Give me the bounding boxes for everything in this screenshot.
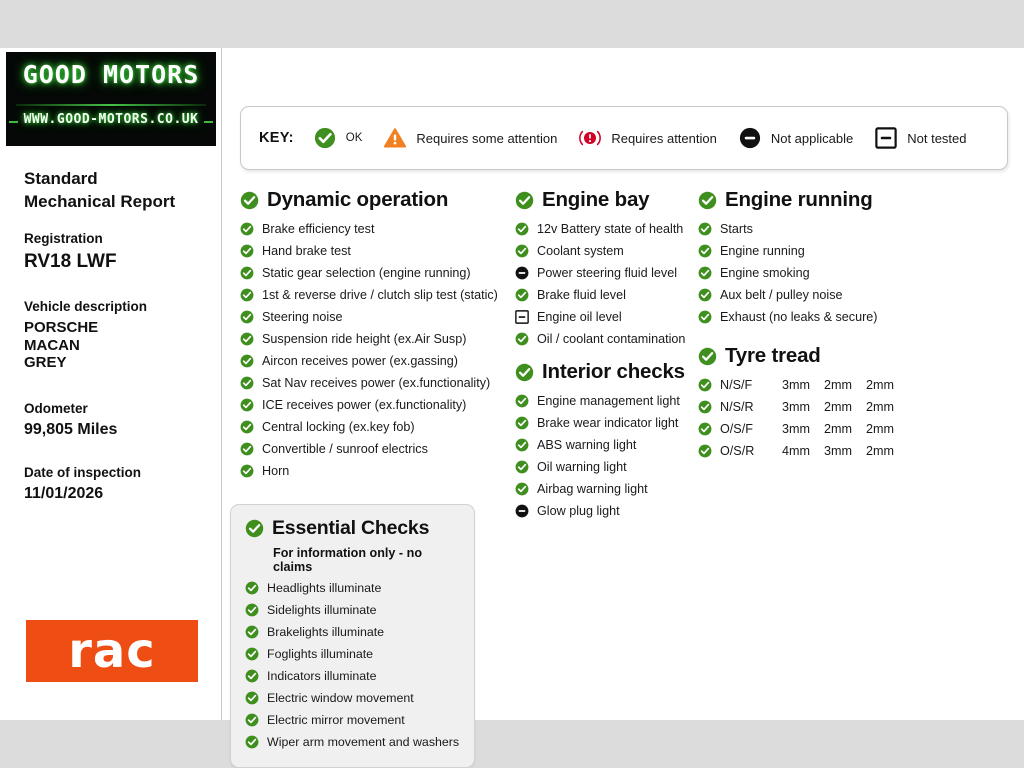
check-item: Brake efficiency test [240, 218, 505, 240]
section-title: Essential Checks [272, 517, 429, 540]
check-circle-icon [245, 603, 259, 617]
check-circle-icon [240, 376, 254, 390]
vehicle-make: PORSCHE [24, 319, 214, 336]
minus-circle-icon [515, 266, 529, 280]
check-item-label: Steering noise [262, 310, 343, 324]
check-item-label: ICE receives power (ex.functionality) [262, 398, 466, 412]
tyre-depth-outer: 3mm [782, 400, 824, 414]
key-legend-item-label: Not tested [907, 131, 966, 146]
inspection-columns: Dynamic operationBrake efficiency testHa… [240, 188, 1010, 718]
check-circle-icon [245, 519, 264, 538]
check-circle-icon [240, 420, 254, 434]
check-item: Static gear selection (engine running) [240, 262, 505, 284]
check-item-label: ABS warning light [537, 438, 636, 452]
check-item-label: Aircon receives power (ex.gassing) [262, 354, 458, 368]
key-legend-item-label: OK [346, 132, 363, 144]
check-circle-icon [698, 266, 712, 280]
tyre-depth-outer: 3mm [782, 378, 824, 392]
check-item: Headlights illuminate [245, 577, 460, 599]
check-circle-icon [698, 378, 712, 392]
inspection-date-value: 11/01/2026 [24, 485, 214, 503]
key-legend-item-na: Not applicable [739, 127, 853, 149]
check-item-label: Static gear selection (engine running) [262, 266, 471, 280]
tyre-depth-middle: 2mm [824, 378, 866, 392]
footer-watermark [974, 699, 976, 706]
check-circle-icon [515, 191, 534, 210]
check-item: Exhaust (no leaks & secure) [698, 306, 1008, 328]
check-circle-icon [515, 438, 529, 452]
good-motors-logo-name: GOOD MOTORS [6, 60, 216, 89]
section-subtitle: For information only - no claims [273, 546, 460, 574]
key-legend-item-attention-some: Requires some attention [384, 127, 557, 149]
check-circle-icon [515, 288, 529, 302]
check-circle-icon [240, 266, 254, 280]
check-circle-icon [240, 332, 254, 346]
section-header: Interior checks [515, 360, 705, 384]
check-circle-icon [698, 347, 717, 366]
check-item: Hand brake test [240, 240, 505, 262]
tyre-depth-middle: 2mm [824, 422, 866, 436]
rac-logo-text: rac [68, 627, 156, 675]
check-item-label: Sat Nav receives power (ex.functionality… [262, 376, 490, 390]
check-item: Engine management light [515, 390, 705, 412]
check-circle-icon [698, 288, 712, 302]
page-title-line-2: Mechanical Report [24, 191, 214, 214]
check-circle-icon [245, 691, 259, 705]
check-circle-icon [240, 354, 254, 368]
check-item-label: Wiper arm movement and washers [267, 735, 459, 749]
check-circle-icon [698, 400, 712, 414]
minus-square-icon [515, 310, 529, 324]
tyre-depth-middle: 2mm [824, 400, 866, 414]
section-engine-running: Engine runningStartsEngine runningEngine… [698, 188, 1008, 328]
check-item-label: Convertible / sunroof electrics [262, 442, 428, 456]
check-circle-icon [515, 482, 529, 496]
section-dynamic-operation: Dynamic operationBrake efficiency testHa… [240, 188, 505, 482]
check-item-label: Oil / coolant contamination [537, 332, 685, 346]
tyre-row: N/S/R3mm2mm2mm [698, 396, 1008, 418]
check-item: Foglights illuminate [245, 643, 460, 665]
check-item-label: Hand brake test [262, 244, 351, 258]
check-circle-icon [240, 222, 254, 236]
check-circle-icon [240, 191, 259, 210]
check-circle-icon [245, 625, 259, 639]
check-item-label: Foglights illuminate [267, 647, 373, 661]
check-item-label: 1st & reverse drive / clutch slip test (… [262, 288, 498, 302]
check-circle-icon [515, 460, 529, 474]
check-item-label: Suspension ride height (ex.Air Susp) [262, 332, 466, 346]
check-item-label: 12v Battery state of health [537, 222, 683, 236]
check-circle-icon [515, 416, 529, 430]
section-engine-bay: Engine bay 12v Battery state of healthCo… [515, 188, 705, 350]
check-item: Airbag warning light [515, 478, 705, 500]
check-circle-icon [240, 244, 254, 258]
section-header: Tyre tread [698, 344, 1008, 368]
page-title-line-1: Standard [24, 168, 214, 191]
check-circle-icon [698, 310, 712, 324]
vehicle-description-label: Vehicle description [24, 299, 214, 314]
check-circle-icon [245, 669, 259, 683]
vehicle-colour: GREY [24, 354, 214, 371]
tyre-row: O/S/R4mm3mm2mm [698, 440, 1008, 462]
check-item: Electric mirror movement [245, 709, 460, 731]
tyre-depth-outer: 4mm [782, 444, 824, 458]
tyre-depth-inner: 2mm [866, 422, 908, 436]
section-header: Engine running [698, 188, 1008, 212]
check-item: Aux belt / pulley noise [698, 284, 1008, 306]
rac-logo: rac [26, 620, 198, 682]
good-motors-logo-url: WWW.GOOD-MOTORS.CO.UK [6, 112, 216, 127]
check-item: Brakelights illuminate [245, 621, 460, 643]
check-circle-icon [698, 244, 712, 258]
vehicle-model: MACAN [24, 337, 214, 354]
check-item: Convertible / sunroof electrics [240, 438, 505, 460]
tyre-row: N/S/F3mm2mm2mm [698, 374, 1008, 396]
key-legend-title: KEY: [259, 130, 294, 146]
check-item: Engine smoking [698, 262, 1008, 284]
check-item: 12v Battery state of health [515, 218, 705, 240]
check-item-label: Indicators illuminate [267, 669, 377, 683]
section-title: Engine bay [542, 188, 649, 212]
check-item-label: Electric window movement [267, 691, 414, 705]
column-left: Dynamic operationBrake efficiency testHa… [240, 188, 505, 482]
check-item-label: Brake wear indicator light [537, 416, 678, 430]
minus-circle-icon [739, 127, 761, 149]
section-essential-checks: Essential ChecksFor information only - n… [230, 504, 475, 768]
alert-circle-icon [579, 127, 601, 149]
report-page: GOOD MOTORS WWW.GOOD-MOTORS.CO.UK Standa… [0, 48, 1024, 720]
tyre-depth-inner: 2mm [866, 444, 908, 458]
tyre-depth-inner: 2mm [866, 400, 908, 414]
key-legend: KEY: OKRequires some attentionRequires a… [240, 106, 1008, 170]
check-circle-icon [698, 191, 717, 210]
tyre-depth-inner: 2mm [866, 378, 908, 392]
check-item: Suspension ride height (ex.Air Susp) [240, 328, 505, 350]
check-item-label: Electric mirror movement [267, 713, 405, 727]
check-circle-icon [698, 444, 712, 458]
tyre-depth-middle: 3mm [824, 444, 866, 458]
check-circle-icon [698, 222, 712, 236]
registration-value: RV18 LWF [24, 251, 214, 273]
check-circle-icon [515, 363, 534, 382]
tyre-row: O/S/F3mm2mm2mm [698, 418, 1008, 440]
tyre-position: O/S/R [720, 444, 782, 458]
tyre-position: N/S/F [720, 378, 782, 392]
check-item-label: Glow plug light [537, 504, 620, 518]
inspection-date-label: Date of inspection [24, 465, 214, 480]
section-tyre-tread: Tyre treadN/S/F3mm2mm2mmN/S/R3mm2mm2mmO/… [698, 344, 1008, 462]
check-item: Aircon receives power (ex.gassing) [240, 350, 505, 372]
section-header: Engine bay [515, 188, 705, 212]
check-item-label: Starts [720, 222, 753, 236]
check-item-label: Horn [262, 464, 289, 478]
check-item-label: Headlights illuminate [267, 581, 381, 595]
check-item: Central locking (ex.key fob) [240, 416, 505, 438]
check-item-label: Brakelights illuminate [267, 625, 384, 639]
check-circle-icon [240, 398, 254, 412]
check-item: Brake wear indicator light [515, 412, 705, 434]
tyre-position: O/S/F [720, 422, 782, 436]
check-item: Glow plug light [515, 500, 705, 522]
check-item: Sat Nav receives power (ex.functionality… [240, 372, 505, 394]
check-item-label: Engine running [720, 244, 805, 258]
check-item-label: Coolant system [537, 244, 624, 258]
check-circle-icon [515, 394, 529, 408]
check-item: Steering noise [240, 306, 505, 328]
key-legend-item-ok: OK [314, 127, 363, 149]
check-circle-icon [245, 735, 259, 749]
check-circle-icon [515, 222, 529, 236]
check-item: Sidelights illuminate [245, 599, 460, 621]
check-circle-icon [314, 127, 336, 149]
minus-circle-icon [515, 504, 529, 518]
check-item-label: Engine oil level [537, 310, 622, 324]
section-title: Interior checks [542, 360, 685, 384]
vehicle-details-sidebar: GOOD MOTORS WWW.GOOD-MOTORS.CO.UK Standa… [0, 48, 222, 720]
check-item-label: Airbag warning light [537, 482, 648, 496]
check-item: 1st & reverse drive / clutch slip test (… [240, 284, 505, 306]
check-item: Oil warning light [515, 456, 705, 478]
key-legend-item-attention: Requires attention [579, 127, 717, 149]
check-circle-icon [240, 288, 254, 302]
check-circle-icon [240, 310, 254, 324]
column-right: Engine runningStartsEngine runningEngine… [698, 188, 1008, 462]
check-item-label: Engine management light [537, 394, 680, 408]
check-item-label: Exhaust (no leaks & secure) [720, 310, 878, 324]
section-title: Engine running [725, 188, 873, 212]
check-circle-icon [515, 332, 529, 346]
logo-divider [16, 104, 206, 106]
check-item-label: Aux belt / pulley noise [720, 288, 843, 302]
check-circle-icon [515, 244, 529, 258]
section-title: Dynamic operation [267, 188, 448, 212]
odometer-value: 99,805 Miles [24, 421, 214, 439]
check-item: ICE receives power (ex.functionality) [240, 394, 505, 416]
check-item: Engine running [698, 240, 1008, 262]
check-item: Indicators illuminate [245, 665, 460, 687]
check-item: Electric window movement [245, 687, 460, 709]
check-item: ABS warning light [515, 434, 705, 456]
check-item-label: Power steering fluid level [537, 266, 677, 280]
page-title: Standard Mechanical Report [24, 168, 214, 213]
key-legend-item-label: Requires some attention [416, 131, 557, 146]
key-legend-item-label: Not applicable [771, 131, 853, 146]
check-item-label: Engine smoking [720, 266, 810, 280]
section-interior-checks: Interior checksEngine management lightBr… [515, 360, 705, 522]
vehicle-description-value: PORSCHE MACAN GREY [24, 319, 214, 371]
check-item: Starts [698, 218, 1008, 240]
key-legend-items: OKRequires some attentionRequires attent… [314, 127, 989, 149]
check-item-label: Brake efficiency test [262, 222, 374, 236]
good-motors-logo: GOOD MOTORS WWW.GOOD-MOTORS.CO.UK [6, 52, 216, 146]
check-circle-icon [245, 713, 259, 727]
check-circle-icon [245, 647, 259, 661]
check-item-label: Brake fluid level [537, 288, 626, 302]
sidebar-fields: Standard Mechanical Report Registration … [24, 168, 214, 503]
check-item: Horn [240, 460, 505, 482]
check-item-label: Sidelights illuminate [267, 603, 377, 617]
check-circle-icon [240, 464, 254, 478]
check-circle-icon [698, 422, 712, 436]
warning-triangle-icon [384, 127, 406, 149]
section-header: Essential Checks [245, 517, 460, 540]
check-circle-icon [240, 442, 254, 456]
column-middle: Engine bay 12v Battery state of healthCo… [515, 188, 705, 522]
check-item: Coolant system [515, 240, 705, 262]
check-item: Engine oil level [515, 306, 705, 328]
section-title: Tyre tread [725, 344, 821, 368]
check-item: Brake fluid level [515, 284, 705, 306]
check-item-label: Central locking (ex.key fob) [262, 420, 415, 434]
registration-label: Registration [24, 231, 214, 246]
check-item-label: Oil warning light [537, 460, 627, 474]
check-item: Wiper arm movement and washers [245, 731, 460, 753]
minus-square-icon [875, 127, 897, 149]
odometer-label: Odometer [24, 401, 214, 416]
check-item: Oil / coolant contamination [515, 328, 705, 350]
key-legend-item-not-tested: Not tested [875, 127, 966, 149]
check-item: Power steering fluid level [515, 262, 705, 284]
tyre-position: N/S/R [720, 400, 782, 414]
section-header: Dynamic operation [240, 188, 505, 212]
key-legend-item-label: Requires attention [611, 131, 717, 146]
tyre-depth-outer: 3mm [782, 422, 824, 436]
check-circle-icon [245, 581, 259, 595]
